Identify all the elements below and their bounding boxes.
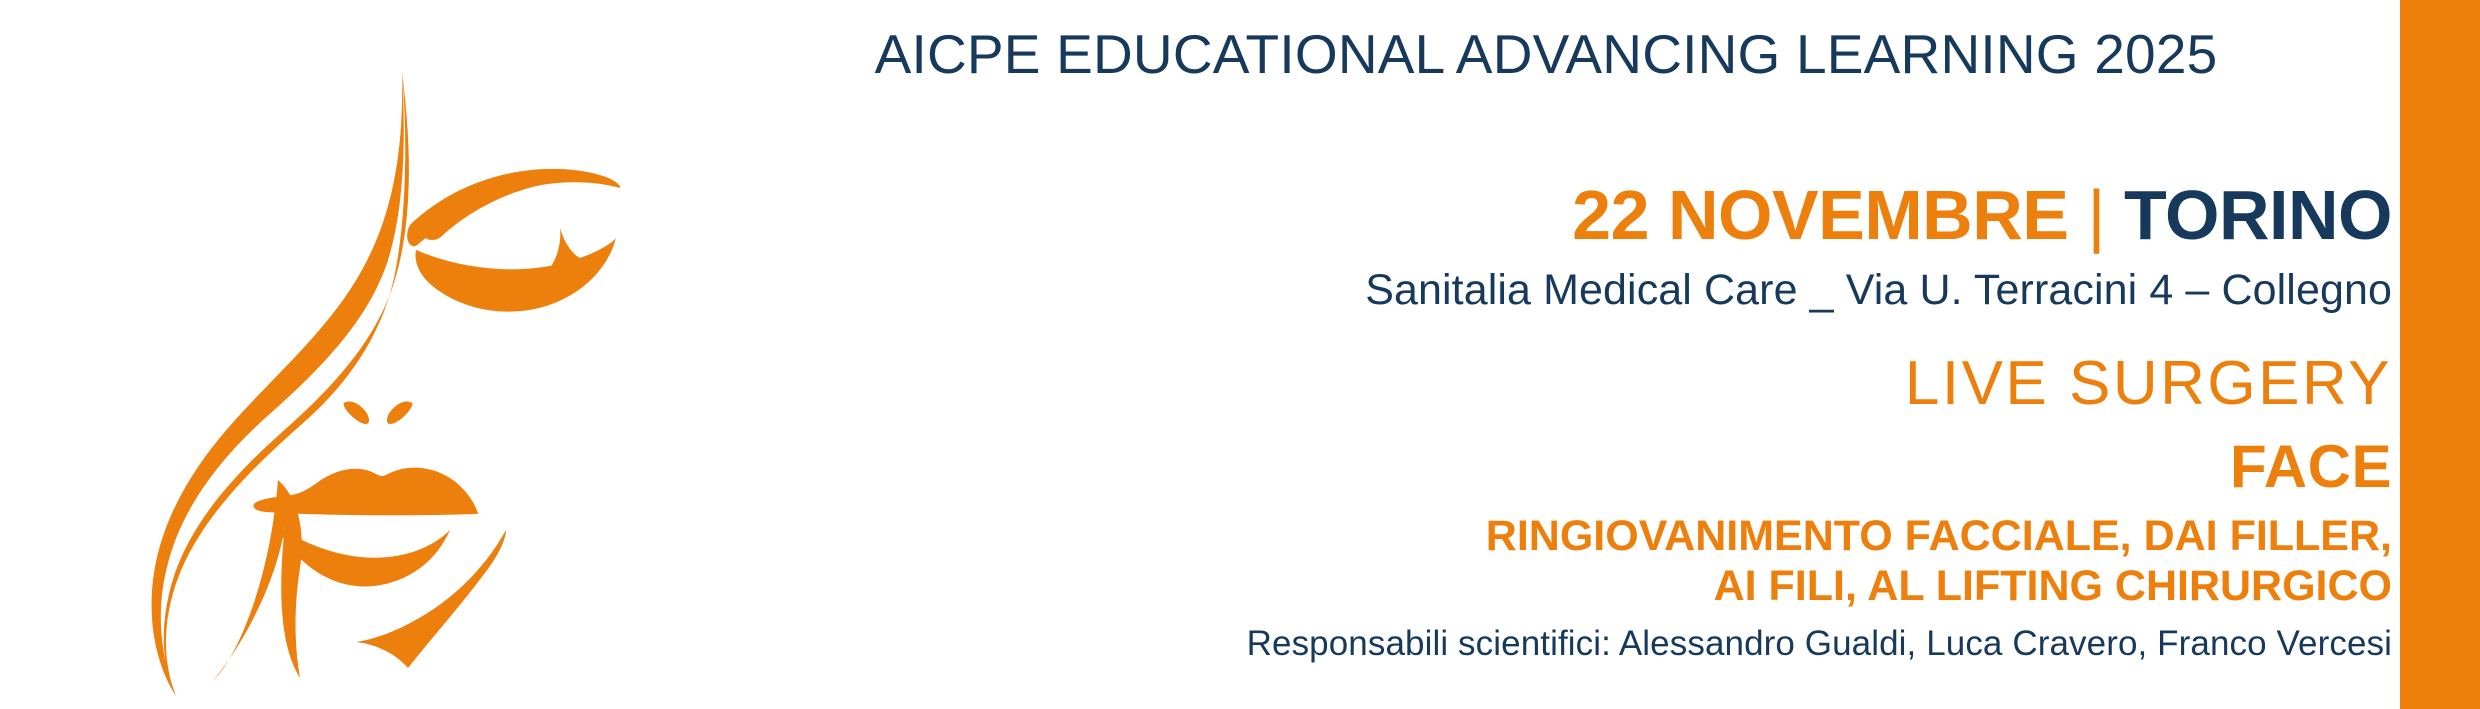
live-surgery-label: LIVE SURGERY	[1905, 348, 2392, 419]
hair-sweep-shape	[152, 72, 404, 696]
event-city: TORINO	[2124, 176, 2392, 254]
nostril-left	[344, 401, 369, 424]
event-venue-address: Sanitalia Medical Care _ Via U. Terracin…	[1365, 266, 2392, 315]
lower-lip	[277, 526, 450, 586]
stylized-female-face-logo	[60, 10, 620, 700]
subtitle-line-2: AI FILI, AL LIFTING CHIRURGICO	[1714, 562, 2392, 611]
topic-face-label: FACE	[2230, 432, 2392, 501]
date-location-line: 22 NOVEMBRE | TORINO	[1572, 175, 2392, 255]
hair-strand	[212, 480, 302, 682]
right-accent-bar	[2400, 0, 2480, 709]
scientific-directors-credits: Responsabili scientifici: Alessandro Gua…	[1247, 624, 2392, 664]
eye-lower-lid	[416, 238, 617, 312]
banner-text-block: AICPE EDUCATIONAL ADVANCING LEARNING 202…	[700, 0, 2392, 709]
nostril-right	[387, 401, 412, 424]
event-title: AICPE EDUCATIONAL ADVANCING LEARNING 202…	[700, 22, 2392, 86]
event-date: 22 NOVEMBRE	[1572, 176, 2068, 254]
subtitle-line-1: RINGIOVANIMENTO FACCIALE, DAI FILLER,	[1486, 512, 2392, 561]
event-banner: AICPE EDUCATIONAL ADVANCING LEARNING 202…	[0, 0, 2480, 709]
date-separator: |	[2068, 176, 2124, 254]
